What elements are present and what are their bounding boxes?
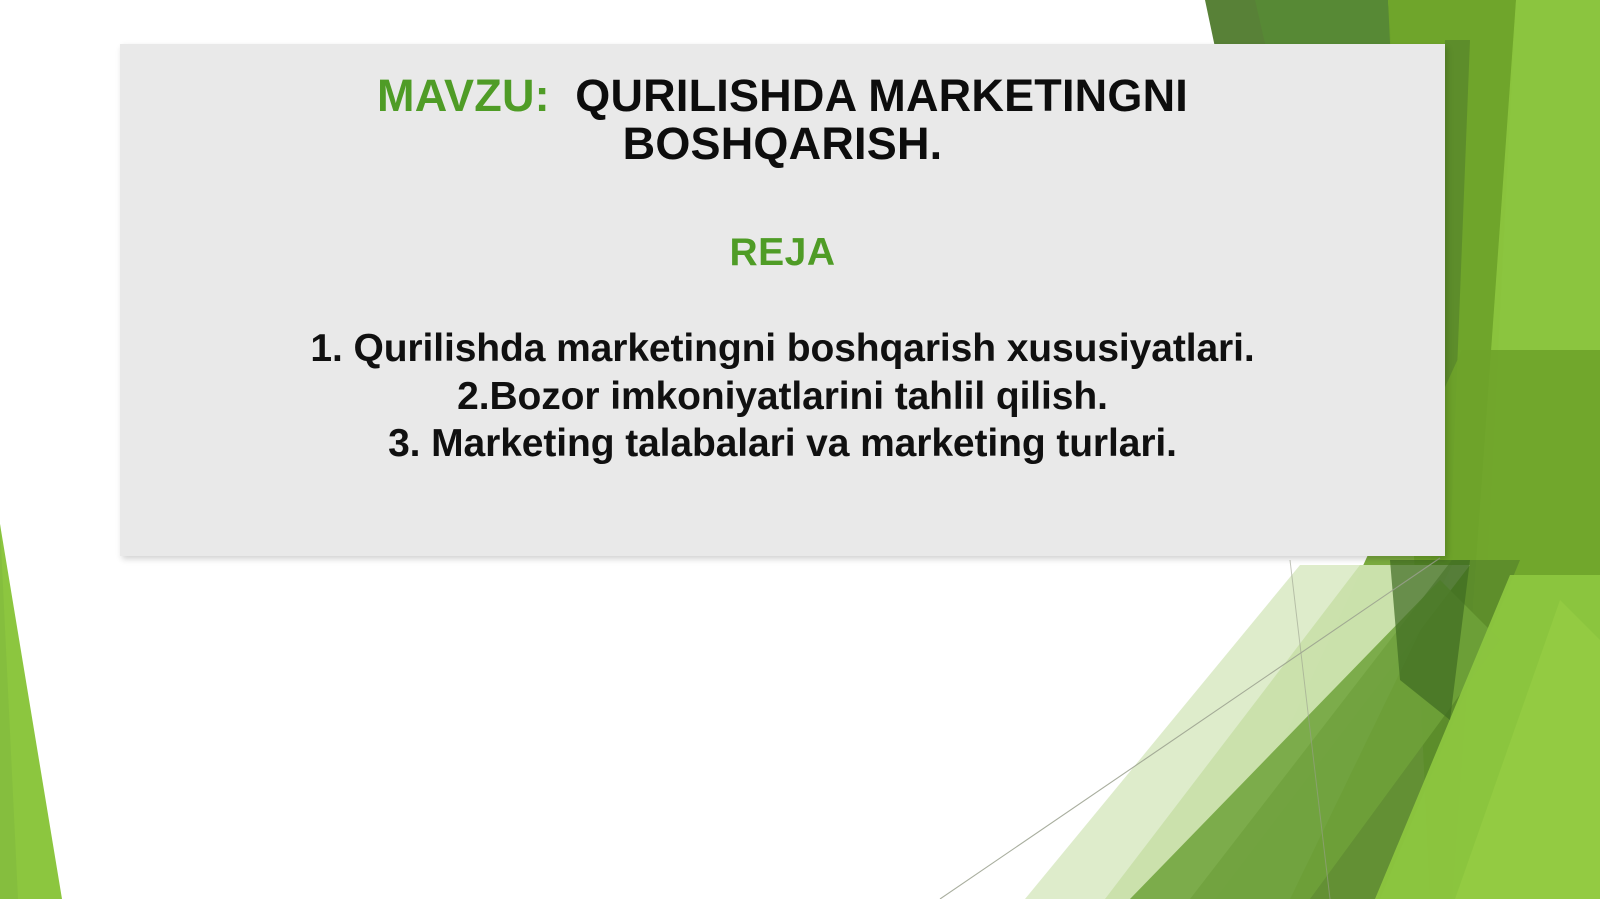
decor-shape-bottom-pale-wedge-2 (1105, 565, 1452, 899)
decor-hairline-short (1290, 560, 1330, 899)
slide-title-main-line-1: QURILISHDA MARKETINGNI (575, 70, 1188, 121)
slide-content-card: MAVZU: QURILISHDA MARKETINGNI BOSHQARISH… (120, 44, 1445, 556)
slide-title-line-1: MAVZU: QURILISHDA MARKETINGNI (146, 72, 1419, 120)
agenda-item-3: 3. Marketing talabalari va marketing tur… (146, 420, 1419, 468)
decor-shape-bottom-left-wedge (0, 524, 62, 899)
decor-shape-right-lime-wedge (1452, 0, 1600, 899)
decor-shape-bottom-dark-diagonal (1190, 560, 1520, 899)
decor-hairline-long (940, 558, 1440, 899)
agenda-item-1: 1. Qurilishda marketingni boshqarish xus… (146, 325, 1419, 373)
agenda-list: 1. Qurilishda marketingni boshqarish xus… (146, 325, 1419, 468)
slide-title-main-line-2: BOSHQARISH. (146, 120, 1419, 168)
decor-shape-bottom-pale-wedge (1025, 565, 1470, 899)
slide-title-prefix: MAVZU: (377, 70, 550, 121)
decor-shape-bottom-bright-facet (1375, 575, 1600, 899)
decor-shape-bottom-green-diagonal (1130, 580, 1500, 899)
presentation-slide: MAVZU: QURILISHDA MARKETINGNI BOSHQARISH… (0, 0, 1600, 899)
slide-title-block: MAVZU: QURILISHDA MARKETINGNI BOSHQARISH… (146, 72, 1419, 168)
agenda-item-2: 2.Bozor imkoniyatlarini tahlil qilish. (146, 373, 1419, 421)
section-heading-reja: REJA (146, 231, 1419, 275)
decor-shape-bottom-deep-facet (1390, 560, 1470, 720)
decor-shape-bottom-left-wedge-shade (0, 524, 18, 899)
decor-shape-bottom-lime-facet (1455, 600, 1600, 899)
